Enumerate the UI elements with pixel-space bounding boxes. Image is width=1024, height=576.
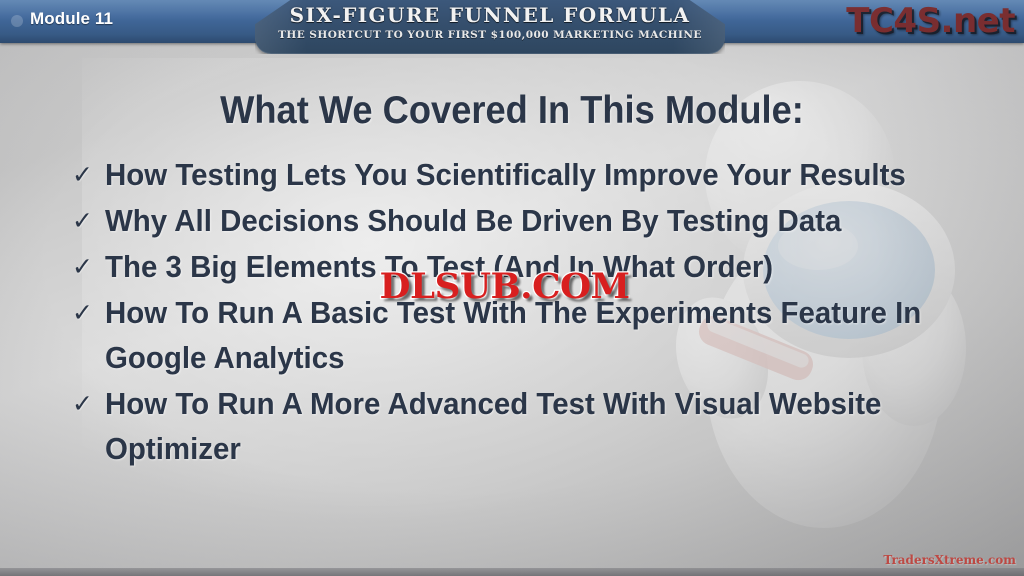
checkmark-icon: ✓ <box>72 381 105 426</box>
list-item-label: How Testing Lets You Scientifically Impr… <box>105 152 929 197</box>
footer-watermark: TradersXtreme.com <box>883 553 1016 567</box>
checkmark-icon: ✓ <box>72 244 105 289</box>
list-item-label: How To Run A More Advanced Test With Vis… <box>105 381 929 471</box>
dlsub-watermark: DLSUB.COM <box>380 266 630 307</box>
course-banner: SIX-FIGURE FUNNEL FORMULA THE SHORTCUT T… <box>255 0 725 54</box>
checkmark-icon: ✓ <box>72 198 105 243</box>
footer-strip <box>0 568 1024 576</box>
page-title: What We Covered In This Module: <box>36 89 988 133</box>
list-item: ✓ How Testing Lets You Scientifically Im… <box>72 152 972 197</box>
list-item-label: Why All Decisions Should Be Driven By Te… <box>105 198 929 243</box>
list-item: ✓ Why All Decisions Should Be Driven By … <box>72 198 972 243</box>
tc4s-watermark: TC4S.net <box>846 1 1015 41</box>
bullet-list: ✓ How Testing Lets You Scientifically Im… <box>72 152 972 472</box>
list-item: ✓ How To Run A More Advanced Test With V… <box>72 381 972 471</box>
checkmark-icon: ✓ <box>72 152 105 197</box>
banner-text-group: SIX-FIGURE FUNNEL FORMULA THE SHORTCUT T… <box>255 0 725 41</box>
checkmark-icon: ✓ <box>72 290 105 335</box>
slide-canvas: Module 11 SIX-FIGURE FUNNEL FORMULA THE … <box>0 0 1024 576</box>
module-label: Module 11 <box>30 9 113 29</box>
banner-subtitle: THE SHORTCUT TO YOUR FIRST $100,000 MARK… <box>255 29 725 41</box>
banner-title: SIX-FIGURE FUNNEL FORMULA <box>255 3 725 27</box>
bullet-dot-icon <box>11 15 23 27</box>
